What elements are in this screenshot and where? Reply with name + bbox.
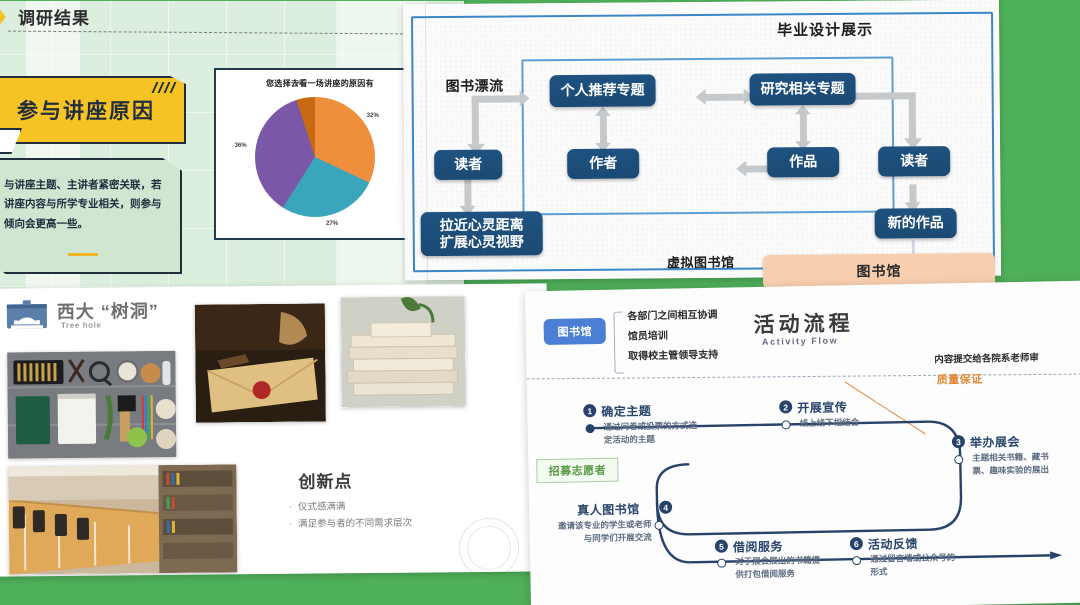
flow-step-3-dot: [954, 455, 963, 464]
bullet-icon: ·: [289, 516, 292, 533]
innovation-point-0: 仪式感满满: [298, 499, 346, 516]
node-personal-topic-label: 个人推荐专题: [561, 82, 645, 100]
book-drift-label: 图书漂流: [445, 76, 503, 96]
arrow-to-personal: [496, 95, 520, 102]
tree-hole-subtitle: Tree hole: [61, 321, 102, 330]
arrowhead-to-personal-left: [696, 89, 706, 105]
node-new-work-label: 新的作品: [888, 214, 944, 232]
reason-banner-label: 参与讲座原因: [17, 95, 155, 125]
accent-underline: [68, 253, 98, 256]
flow-step-5-title: 借阅服务: [733, 538, 783, 556]
node-reader-left[interactable]: 读者: [434, 150, 502, 181]
slide-activity-flow[interactable]: 图书馆 各部门之间相互协调 馆员培训 取得校主管领导支持 活动流程 Activi…: [525, 281, 1080, 605]
arrowhead-author-left: [736, 161, 746, 177]
flow-step-4-desc: 邀请该专业的学生或老师与同学们开展交流: [551, 518, 651, 546]
university-seal-watermark: [459, 518, 520, 577]
innovation-points: ·仪式感满满 ·满足参与者的不同需求层次: [289, 499, 413, 533]
flow-step-4-dot: [654, 521, 663, 530]
reason-banner: 参与讲座原因: [0, 76, 186, 144]
node-personal-topic[interactable]: 个人推荐专题: [549, 74, 655, 107]
bullet-icon: ·: [289, 500, 292, 517]
flow-step-1-title: 确定主题: [601, 402, 651, 420]
pie-label-0: 32%: [367, 113, 379, 119]
library-banner-label: 图书馆: [856, 261, 901, 281]
node-work-label: 作品: [789, 153, 817, 171]
survey-body-text: 与讲座主题、主讲者紧密关联，若讲座内容与所学专业相关，则参与倾向会更高一些。: [4, 176, 162, 234]
flow-step-4-title: 真人图书馆: [577, 500, 640, 518]
virtual-library-label: 虚拟图书馆: [667, 252, 735, 272]
flow-step-2-desc: 线上线下相结合: [799, 415, 899, 430]
pie-label-1: 27%: [326, 221, 338, 227]
node-reader-left-label: 读者: [454, 156, 482, 174]
photo-wax-sealed-envelope: [195, 303, 326, 422]
pie-slices: [254, 96, 376, 218]
arrow-right-loop-down: [909, 92, 916, 140]
node-work[interactable]: 作品: [767, 147, 839, 178]
arrow-research-work: [800, 113, 807, 143]
library-building-icon: [5, 298, 49, 330]
innovation-point-1: 满足参与者的不同需求层次: [298, 515, 412, 533]
flow-step-2-title: 开展宣传: [797, 398, 847, 416]
arrowhead-up-work: [795, 105, 811, 114]
node-new-work[interactable]: 新的作品: [875, 208, 957, 239]
node-reader-right-label: 读者: [900, 152, 928, 170]
arrow-drift-corner: [472, 96, 498, 103]
node-research-topic-label: 研究相关专题: [761, 80, 845, 98]
arrow-personal-author: [600, 115, 607, 145]
pie-label-3: 5%: [295, 81, 304, 87]
photo-stacked-old-letters: [341, 296, 466, 407]
flow-step-1-dot: [586, 424, 595, 433]
flow-step-3-desc: 主题相关书籍、藏书票、趣味实验的展出: [972, 450, 1060, 478]
flow-step-1-desc: 通过问卷或投票的方式选定活动的主题: [603, 419, 697, 447]
slide-collage: 调研结果 参与讲座原因 与讲座主题、主讲者紧密关联，若讲座内容与所学专业相关，则…: [0, 0, 1080, 605]
node-author-label: 作者: [589, 155, 617, 173]
pie-label-2: 36%: [235, 143, 247, 149]
pie-chart-title: 您选择去看一场讲座的原因有: [266, 78, 374, 89]
slide-graduation-design[interactable]: 毕业设计展示 图书漂流 虚拟图书馆 个人推荐专题: [403, 0, 1001, 280]
survey-pie-chart-card: 您选择去看一场讲座的原因有 32% 27% 36% 5%: [214, 68, 423, 240]
arrow-personal-research: [704, 94, 744, 101]
top-green-band: [0, 0, 464, 1]
flow-step-6-title: 活动反馈: [868, 535, 918, 553]
slide-survey-results[interactable]: 调研结果 参与讲座原因 与讲座主题、主讲者紧密关联，若讲座内容与所学专业相关，则…: [0, 0, 464, 296]
flow-step-6-dot: [852, 556, 861, 565]
pie-chart: 32% 27% 36% 5%: [254, 96, 374, 216]
node-research-topic[interactable]: 研究相关专题: [749, 73, 855, 106]
arrowhead-up-author: [595, 107, 611, 116]
tick-marks-icon: [154, 82, 178, 94]
slide-survey-title: 调研结果: [18, 4, 90, 29]
survey-body-card: 与讲座主题、主讲者紧密关联，若讲座内容与所学专业相关，则参与倾向会更高一些。: [0, 158, 182, 274]
flow-step-5-desc: 对于展会展出的书籍提供打包借阅服务: [735, 554, 827, 582]
graduation-heading: 毕业设计展示: [777, 19, 873, 41]
slide-tree-hole[interactable]: 西大 “树洞” Tree hole: [0, 283, 549, 576]
node-author[interactable]: 作者: [567, 148, 639, 179]
flow-step-3-title: 举办展会: [970, 433, 1020, 451]
innovation-title: 创新点: [298, 467, 352, 493]
node-outcome-label: 拉近心灵距离 扩展心灵视野: [440, 216, 524, 252]
arrow-drift-down: [472, 96, 479, 144]
node-outcome[interactable]: 拉近心灵距离 扩展心灵视野: [421, 211, 543, 256]
flow-step-6-desc: 通过留言墙或公众号的形式: [870, 551, 962, 579]
node-reader-right[interactable]: 读者: [878, 146, 950, 177]
arrowhead-to-personal: [520, 90, 530, 106]
photo-flatlay-desk-objects: [7, 351, 176, 459]
photo-library-reading-room: [8, 464, 237, 574]
